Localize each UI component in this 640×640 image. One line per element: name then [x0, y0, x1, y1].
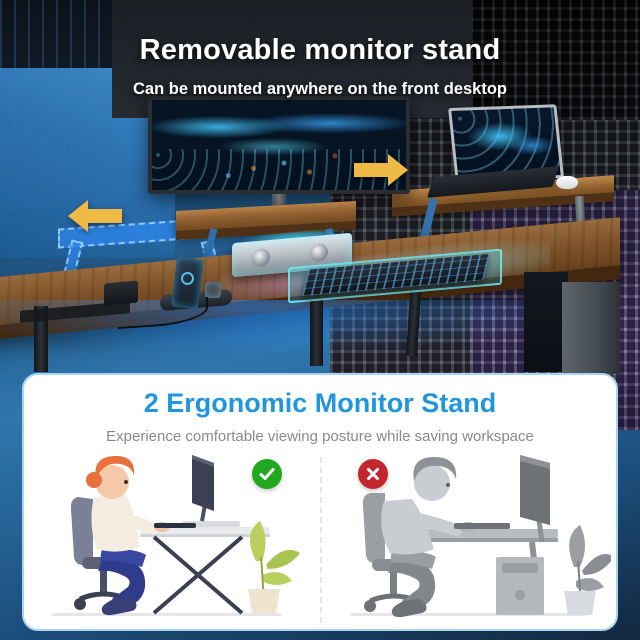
- check-circle-icon: [252, 459, 282, 489]
- move-right-arrow-icon: [352, 150, 410, 190]
- white-mouse: [556, 176, 578, 189]
- comparison-area: [24, 449, 616, 629]
- speaker-cone-left: [252, 248, 270, 268]
- ergonomic-card: 2 Ergonomic Monitor Stand Experience com…: [22, 373, 618, 631]
- side-cabinet: [562, 282, 620, 374]
- product-infographic: Removable monitor stand Can be mounted a…: [0, 0, 640, 640]
- comparison-divider: [320, 457, 322, 623]
- move-left-arrow-icon: [66, 196, 124, 236]
- smartwatch-charger: [205, 282, 221, 298]
- desk-leg-center: [310, 300, 323, 366]
- cross-circle-icon: [358, 459, 388, 489]
- hero-headline: Removable monitor stand: [0, 34, 640, 67]
- hero-subhead: Can be mounted anywhere on the front des…: [0, 80, 640, 99]
- speaker-cone-right: [310, 243, 328, 263]
- card-subtitle: Experience comfortable viewing posture w…: [24, 428, 616, 445]
- card-title: 2 Ergonomic Monitor Stand: [24, 388, 616, 419]
